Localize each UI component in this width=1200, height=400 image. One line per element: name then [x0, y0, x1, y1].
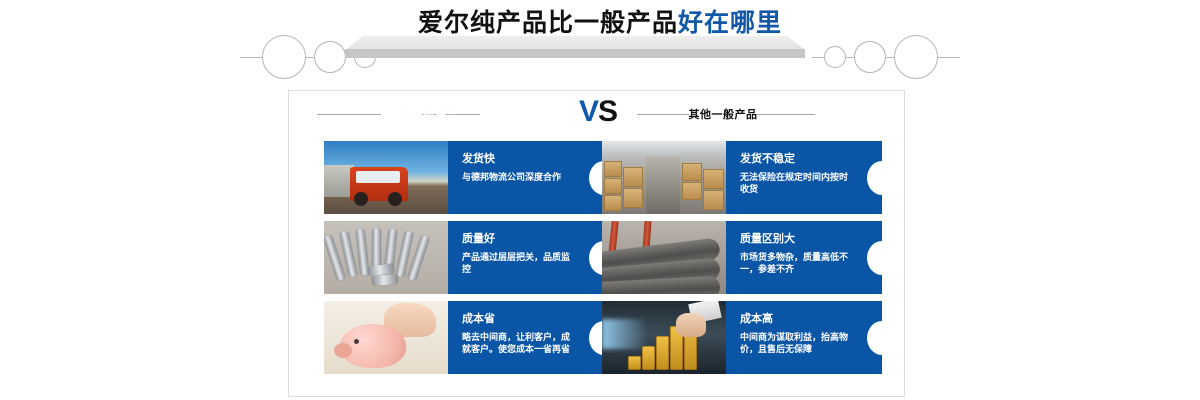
card-thumbnail — [602, 221, 726, 294]
comparison-panel: 爱尔纯产品 VS 其他一般产品 发货快 与德邦物流公司深度合作 — [288, 90, 905, 397]
vs-header-row: 爱尔纯产品 VS 其他一般产品 — [289, 91, 906, 139]
decor-connector-right-1 — [812, 57, 824, 58]
card-notch — [867, 161, 882, 195]
card-desc: 产品通过层层把关，品质监控 — [462, 252, 578, 276]
card-notch — [867, 321, 882, 355]
header-rule-right — [938, 57, 960, 58]
card-desc: 无法保险在规定时间内按时收货 — [740, 172, 856, 196]
card-notch — [867, 241, 882, 275]
header-rule-left — [240, 57, 262, 58]
vs-letter-v: V — [579, 95, 598, 128]
disadvantage-card[interactable]: 成本高 中间商为谋取利益，抬高物价，且售后无保障 — [602, 301, 882, 374]
card-title: 发货不稳定 — [740, 152, 856, 165]
card-body: 质量区别大 市场货多物杂，质量高低不一，参差不齐 — [726, 221, 882, 294]
card-body: 发货不稳定 无法保险在规定时间内按时收货 — [726, 141, 882, 214]
decor-connector-right-3 — [886, 57, 894, 58]
hand-stacking-gold-coins-photo — [602, 301, 726, 374]
card-title: 成本省 — [462, 312, 578, 325]
advantage-card[interactable]: 发货快 与德邦物流公司深度合作 — [324, 141, 604, 214]
card-body: 质量好 产品通过层层把关，品质监控 — [448, 221, 604, 294]
title-plate-shadow — [345, 49, 805, 58]
advantage-card[interactable]: 质量好 产品通过层层把关，品质监控 — [324, 221, 604, 294]
left-advantage-column: 发货快 与德邦物流公司深度合作 质量好 — [324, 141, 604, 381]
hand-dropping-coin-into-piggy-bank-photo — [324, 301, 448, 374]
advantage-card[interactable]: 成本省 略去中间商，让利客户，成就客户。使您成本一省再省 — [324, 301, 604, 374]
decor-circle-right-1 — [824, 46, 846, 68]
warehouse-cardboard-boxes-photo — [602, 141, 726, 214]
right-disadvantage-column: 发货不稳定 无法保险在规定时间内按时收货 质量区别大 市场货多物杂，质量高低不一… — [602, 141, 882, 381]
card-title: 质量好 — [462, 232, 578, 245]
metal-filter-tubes-photo — [324, 221, 448, 294]
card-desc: 市场货多物杂，质量高低不一，参差不齐 — [740, 252, 856, 276]
vs-rule-right-1 — [637, 114, 689, 115]
card-body: 成本高 中间商为谋取利益，抬高物价，且售后无保障 — [726, 301, 882, 374]
disadvantage-card[interactable]: 质量区别大 市场货多物杂，质量高低不一，参差不齐 — [602, 221, 882, 294]
left-column-caption: 爱尔纯产品 — [369, 107, 489, 123]
page-title: 爱尔纯产品比一般产品好在哪里 — [0, 8, 1200, 38]
decor-circle-right-3 — [894, 35, 938, 79]
title-plate-top — [345, 36, 805, 50]
card-body: 成本省 略去中间商，让利客户，成就客户。使您成本一省再省 — [448, 301, 604, 374]
decor-connector-left-1 — [306, 57, 314, 58]
page-header: 爱尔纯产品比一般产品好在哪里 — [0, 0, 1200, 86]
disadvantage-card[interactable]: 发货不稳定 无法保险在规定时间内按时收货 — [602, 141, 882, 214]
vs-badge: VS — [563, 93, 633, 131]
card-thumbnail — [602, 141, 726, 214]
card-thumbnail — [324, 301, 448, 374]
title-plate — [345, 36, 805, 58]
card-desc: 中间商为谋取利益，抬高物价，且售后无保障 — [740, 332, 856, 356]
page-title-main: 爱尔纯产品比一般产品 — [418, 8, 678, 37]
card-thumbnail — [602, 301, 726, 374]
card-thumbnail — [324, 141, 448, 214]
stacked-concrete-pipes-photo — [602, 221, 726, 294]
decor-circle-left-2 — [314, 41, 346, 73]
decor-circle-right-2 — [854, 41, 886, 73]
vs-letter-s: S — [598, 95, 617, 128]
card-thumbnail — [324, 221, 448, 294]
card-body: 发货快 与德邦物流公司深度合作 — [448, 141, 604, 214]
card-desc: 与德邦物流公司深度合作 — [462, 172, 578, 184]
red-truck-on-highway-photo — [324, 141, 448, 214]
card-title: 发货快 — [462, 152, 578, 165]
card-title: 成本高 — [740, 312, 856, 325]
decor-connector-right-2 — [846, 57, 854, 58]
card-title: 质量区别大 — [740, 232, 856, 245]
vs-rule-right-2 — [757, 114, 815, 115]
card-desc: 略去中间商，让利客户，成就客户。使您成本一省再省 — [462, 332, 578, 356]
decor-circle-left-1 — [262, 35, 306, 79]
page-title-highlight: 好在哪里 — [678, 8, 782, 37]
right-column-caption: 其他一般产品 — [685, 106, 761, 122]
